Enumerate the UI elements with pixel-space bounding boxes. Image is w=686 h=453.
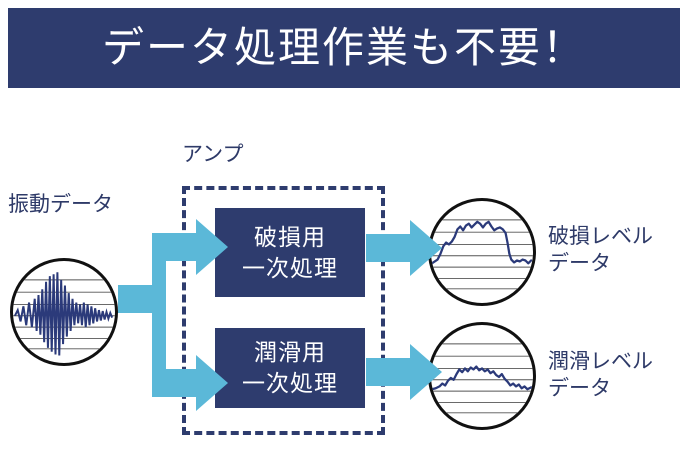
process-box-damage-line2: 一次処理 [242, 253, 338, 284]
lubricant-level-scope [428, 322, 536, 430]
output-label-lubricant-line1: 潤滑レベル [548, 349, 653, 376]
process-box-damage: 破損用 一次処理 [215, 208, 365, 297]
amplifier-label: アンプ [182, 142, 244, 169]
page-title: データ処理作業も不要！ [102, 27, 586, 69]
raw-vibration-scope [10, 258, 118, 366]
damage-level-scope [428, 198, 536, 306]
lubricant-level-waveform-svg [431, 325, 533, 427]
process-box-lubricant-line1: 潤滑用 [254, 337, 326, 368]
output-label-damage: 破損レベル データ [548, 224, 653, 278]
output-label-damage-line1: 破損レベル [548, 224, 653, 251]
damage-level-trace [432, 222, 531, 264]
output-label-lubricant: 潤滑レベル データ [548, 349, 653, 403]
output-label-lubricant-line2: データ [548, 376, 653, 403]
process-box-lubricant-line2: 一次処理 [242, 368, 338, 399]
scope-gridlines [431, 220, 533, 289]
raw-vibration-trace [15, 272, 112, 355]
raw-vibration-waveform-svg [13, 261, 115, 363]
input-data-label: 振動データ [8, 192, 113, 219]
header-banner: データ処理作業も不要！ [8, 8, 680, 88]
output-label-damage-line2: データ [548, 251, 653, 278]
process-box-damage-line1: 破損用 [254, 222, 326, 253]
damage-level-waveform-svg [431, 201, 533, 303]
scope-gridlines [431, 344, 533, 413]
lubricant-level-trace [432, 367, 531, 390]
process-box-lubricant: 潤滑用 一次処理 [215, 328, 365, 408]
